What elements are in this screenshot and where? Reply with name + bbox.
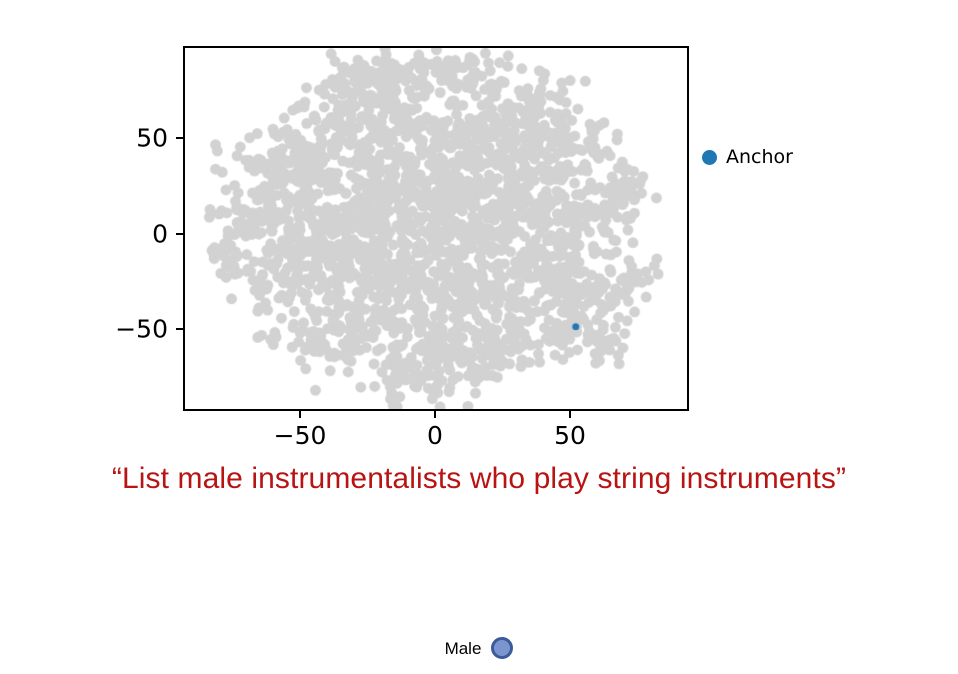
ytick-mark-50 xyxy=(176,137,183,139)
xtick-mark-50 xyxy=(569,411,571,418)
attribute-swatch-label: Male xyxy=(445,640,482,657)
chart-legend: Anchor xyxy=(702,148,793,167)
figure-panel: 50 0 −50 −50 0 50 Anchor “List male inst… xyxy=(0,0,958,674)
query-caption: “List male instrumentalists who play str… xyxy=(0,462,958,497)
ytick-mark-0 xyxy=(176,233,183,235)
xtick-label-0: 0 xyxy=(427,423,443,448)
attribute-swatch: Male xyxy=(0,637,958,659)
legend-label-anchor: Anchor xyxy=(726,148,793,167)
ytick-label-0: 0 xyxy=(106,222,168,247)
legend-marker-anchor xyxy=(702,150,717,165)
attribute-swatch-circle-icon xyxy=(491,637,513,659)
ytick-mark-neg50 xyxy=(176,328,183,330)
ytick-label-50: 50 xyxy=(106,126,168,151)
xtick-label-50: 50 xyxy=(554,423,586,448)
xtick-mark-neg50 xyxy=(299,411,301,418)
scatter-plot-axes xyxy=(183,46,689,411)
scatter-point-cloud xyxy=(185,48,687,409)
xtick-label-neg50: −50 xyxy=(274,423,327,448)
xtick-mark-0 xyxy=(434,411,436,418)
ytick-label-neg50: −50 xyxy=(88,317,168,342)
